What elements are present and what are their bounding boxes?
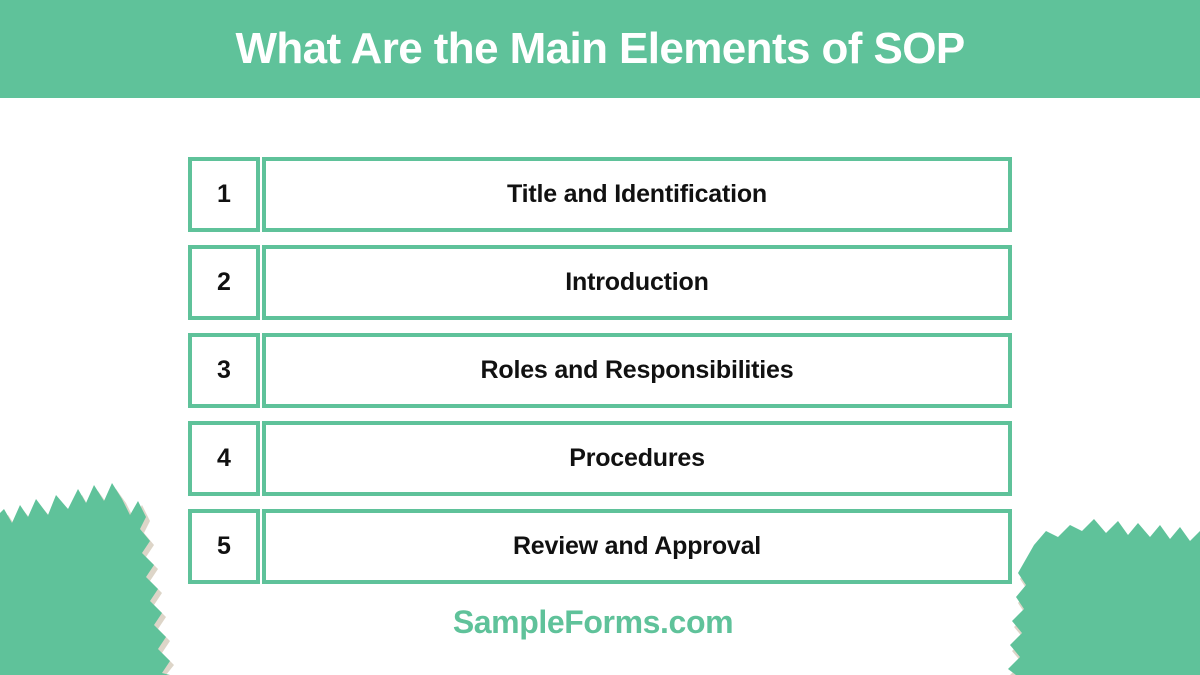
item-label-box: Roles and Responsibilities — [262, 333, 1012, 408]
list-item[interactable]: 5 Review and Approval — [188, 509, 1012, 584]
list-item[interactable]: 2 Introduction — [188, 245, 1012, 320]
item-label: Introduction — [565, 270, 708, 295]
item-number-box: 1 — [188, 157, 260, 232]
item-label-box: Title and Identification — [262, 157, 1012, 232]
item-label: Title and Identification — [507, 182, 767, 207]
list-item[interactable]: 1 Title and Identification — [188, 157, 1012, 232]
list-item[interactable]: 3 Roles and Responsibilities — [188, 333, 1012, 408]
item-number: 2 — [217, 270, 231, 295]
item-number-box: 3 — [188, 333, 260, 408]
item-label-box: Procedures — [262, 421, 1012, 496]
item-number: 5 — [217, 534, 231, 559]
item-label: Review and Approval — [513, 534, 761, 559]
brush-stroke-right-icon — [980, 475, 1200, 675]
brand-name[interactable]: SampleForms.com — [453, 606, 733, 638]
brush-stroke-left-icon — [0, 475, 209, 675]
item-number: 3 — [217, 358, 231, 383]
item-label: Procedures — [569, 446, 705, 471]
footer-brand: SampleForms.com — [0, 606, 1200, 638]
item-number: 1 — [217, 182, 231, 207]
item-number-box: 4 — [188, 421, 260, 496]
item-number: 4 — [217, 446, 231, 471]
item-label: Roles and Responsibilities — [481, 358, 794, 383]
page-title: What Are the Main Elements of SOP — [235, 27, 964, 71]
item-label-box: Introduction — [262, 245, 1012, 320]
item-number-box: 5 — [188, 509, 260, 584]
list-item[interactable]: 4 Procedures — [188, 421, 1012, 496]
item-label-box: Review and Approval — [262, 509, 1012, 584]
item-number-box: 2 — [188, 245, 260, 320]
header-band: What Are the Main Elements of SOP — [0, 0, 1200, 98]
sop-elements-list: 1 Title and Identification 2 Introductio… — [188, 157, 1012, 584]
